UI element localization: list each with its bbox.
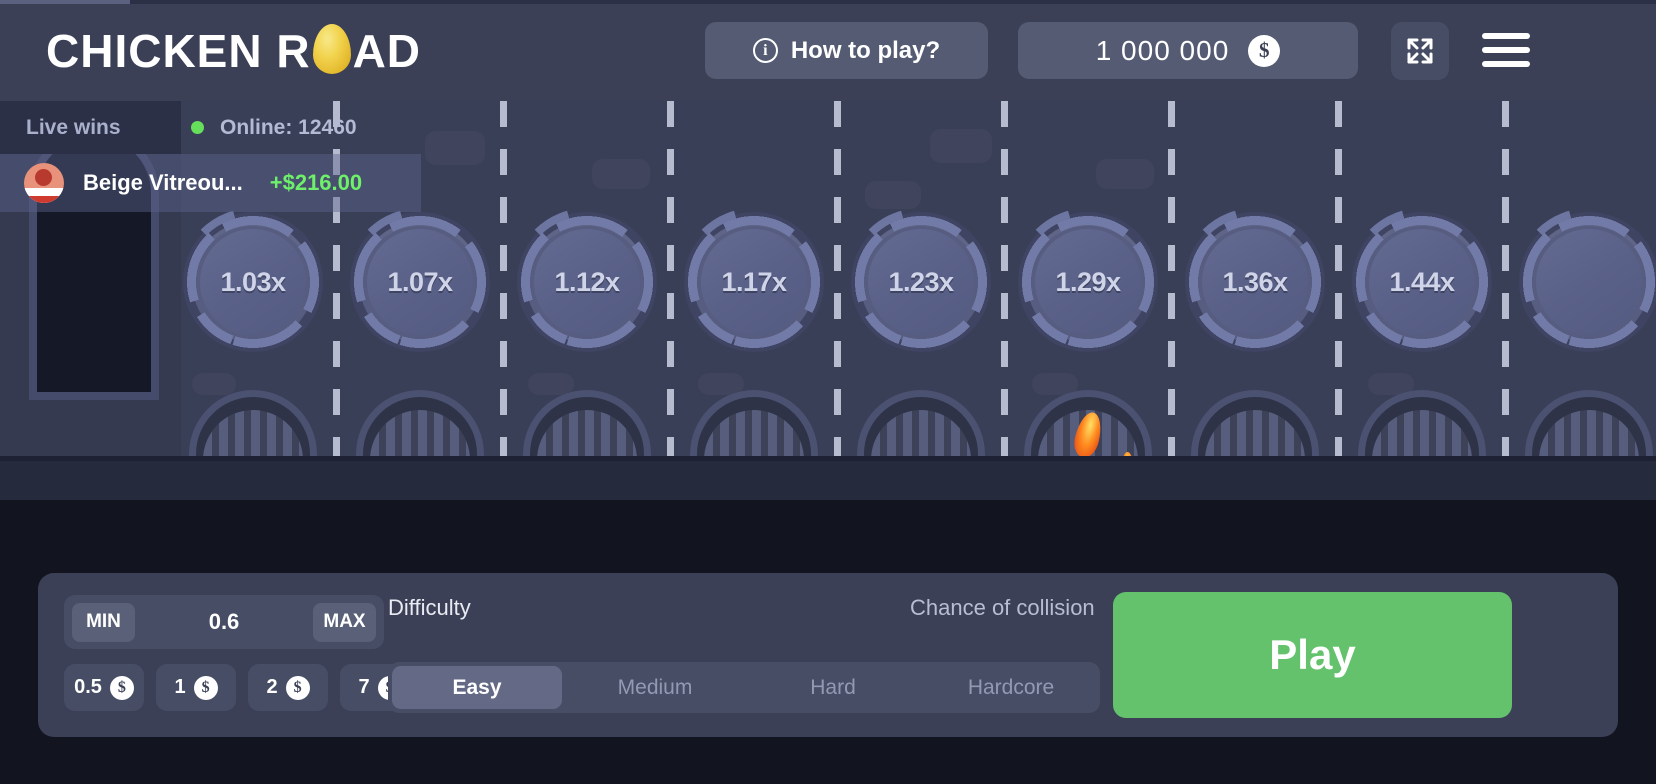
multiplier-token[interactable]: 1.23x [860,221,982,343]
fullscreen-expand-icon [1404,35,1436,67]
lane-divider [1168,101,1175,500]
quick-bet-value: 1 [174,676,185,699]
tab-difficulty-hard[interactable]: Hard [748,666,918,709]
menu-line-1 [1482,33,1530,39]
dollar-coin-icon: $ [194,676,218,700]
multiplier-label: 1.03x [220,267,285,298]
quick-bet-value: 0.5 [74,676,102,699]
multiplier-token[interactable]: 1.17x [693,221,815,343]
balance-amount: 1 000 000 [1096,35,1230,67]
multiplier-label: 1.44x [1389,267,1454,298]
game-app: CHICKEN R AD i How to play? 1 000 000 $ [0,0,1656,784]
app-header: CHICKEN R AD i How to play? 1 000 000 $ [0,0,1656,101]
wall-panel [1096,159,1154,189]
multiplier-inner [1536,229,1642,335]
dollar-coin-icon: $ [286,676,310,700]
lane-divider [1502,101,1509,500]
tab-difficulty-medium[interactable]: Medium [570,666,740,709]
lane-divider [834,101,841,500]
multiplier-token[interactable]: 1.36x [1194,221,1316,343]
play-button-label: Play [1269,631,1355,679]
tab-difficulty-easy[interactable]: Easy [392,666,562,709]
header-center-group: i How to play? 1 000 000 $ [705,22,1358,79]
multiplier-label: 1.29x [1055,267,1120,298]
menu-line-3 [1482,61,1530,67]
egg-icon [313,24,351,74]
wall-panel [865,181,921,209]
wall-panel [930,129,992,163]
how-to-play-label: How to play? [791,37,940,65]
multiplier-token[interactable] [1528,221,1650,343]
bet-max-button[interactable]: MAX [313,603,376,642]
quick-bet-value: 7 [358,676,369,699]
multiplier-label: 1.12x [554,267,619,298]
top-progress-fill [0,0,130,4]
quick-bet-value: 2 [266,676,277,699]
logo-text-part2: AD [353,24,421,78]
difficulty-label: Difficulty [388,595,471,621]
quick-bet-button[interactable]: 2 $ [248,664,328,711]
multiplier-label: 1.07x [387,267,452,298]
multiplier-token[interactable]: 1.07x [359,221,481,343]
lane-divider [1001,101,1008,500]
quick-bet-group: 0.5 $ 1 $ 2 $ 7 $ [64,664,420,711]
bet-amount-input[interactable]: 0.6 [209,609,240,635]
bet-min-button[interactable]: MIN [72,603,135,642]
play-button[interactable]: Play [1113,592,1512,718]
lane-divider [500,101,507,500]
multiplier-label: 1.36x [1222,267,1287,298]
player-avatar-icon [24,163,64,203]
menu-line-2 [1482,47,1530,53]
wall-panel [425,131,485,165]
multiplier-token[interactable]: 1.29x [1027,221,1149,343]
multiplier-label: 1.23x [888,267,953,298]
live-win-list-item[interactable]: Beige Vitreou... +$216.00 [0,154,421,212]
chance-of-collision-label: Chance of collision [910,595,1095,621]
quick-bet-button[interactable]: 0.5 $ [64,664,144,711]
multiplier-token[interactable]: 1.44x [1361,221,1483,343]
controls-panel: MIN 0.6 MAX 0.5 $ 1 $ 2 $ 7 [38,573,1618,737]
bet-amount-stepper: MIN 0.6 MAX [64,595,384,649]
app-logo: CHICKEN R AD [46,24,421,78]
multiplier-token[interactable]: 1.12x [526,221,648,343]
fullscreen-button[interactable] [1391,22,1449,80]
quick-bet-button[interactable]: 1 $ [156,664,236,711]
road-floor [0,456,1656,500]
wall-panel [592,159,650,189]
hamburger-menu-icon[interactable] [1482,26,1530,74]
multiplier-token[interactable]: 1.03x [192,221,314,343]
multiplier-label: 1.17x [721,267,786,298]
difficulty-tabs: Easy Medium Hard Hardcore [388,662,1100,713]
dollar-coin-icon: $ [1248,35,1280,67]
balance-display[interactable]: 1 000 000 $ [1018,22,1358,79]
live-win-amount: +$216.00 [270,170,362,196]
lane-divider [667,101,674,500]
tab-difficulty-hardcore[interactable]: Hardcore [926,666,1096,709]
lane-divider [1335,101,1342,500]
logo-text-part1: CHICKEN R [46,24,311,78]
info-icon: i [753,38,778,63]
live-win-player-name: Beige Vitreou... [83,170,243,196]
top-progress-bar [0,0,1656,4]
bottom-bar: MIN 0.6 MAX 0.5 $ 1 $ 2 $ 7 [0,500,1656,784]
dollar-coin-icon: $ [110,676,134,700]
how-to-play-button[interactable]: i How to play? [705,22,988,79]
